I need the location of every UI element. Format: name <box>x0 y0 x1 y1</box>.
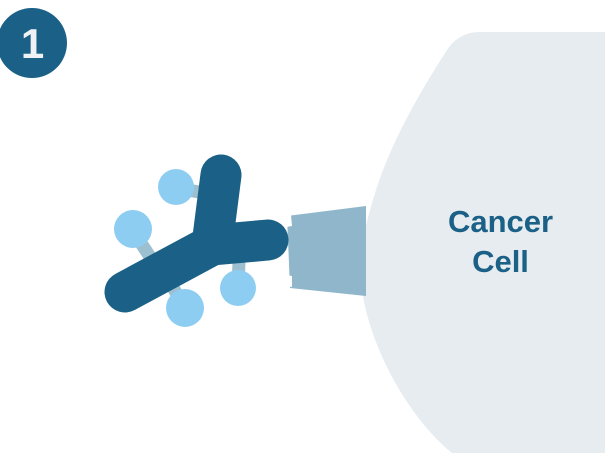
step-badge-number: 1 <box>0 8 68 79</box>
cancer-cell-label: Cancer Cell <box>398 202 603 282</box>
drug-payload-left <box>114 210 152 248</box>
cancer-cell-label-line1: Cancer <box>398 202 603 242</box>
cancer-cell-label-line2: Cell <box>398 242 603 282</box>
drug-payload-bottom-left <box>166 289 204 327</box>
drug-payload-bottom-right <box>220 270 256 306</box>
receptor-shape <box>287 206 366 296</box>
diagram-canvas: 1 Cancer Cell <box>0 0 605 453</box>
antibody-arm-right-binding <box>212 240 268 245</box>
drug-payload-upper-left <box>158 169 194 205</box>
